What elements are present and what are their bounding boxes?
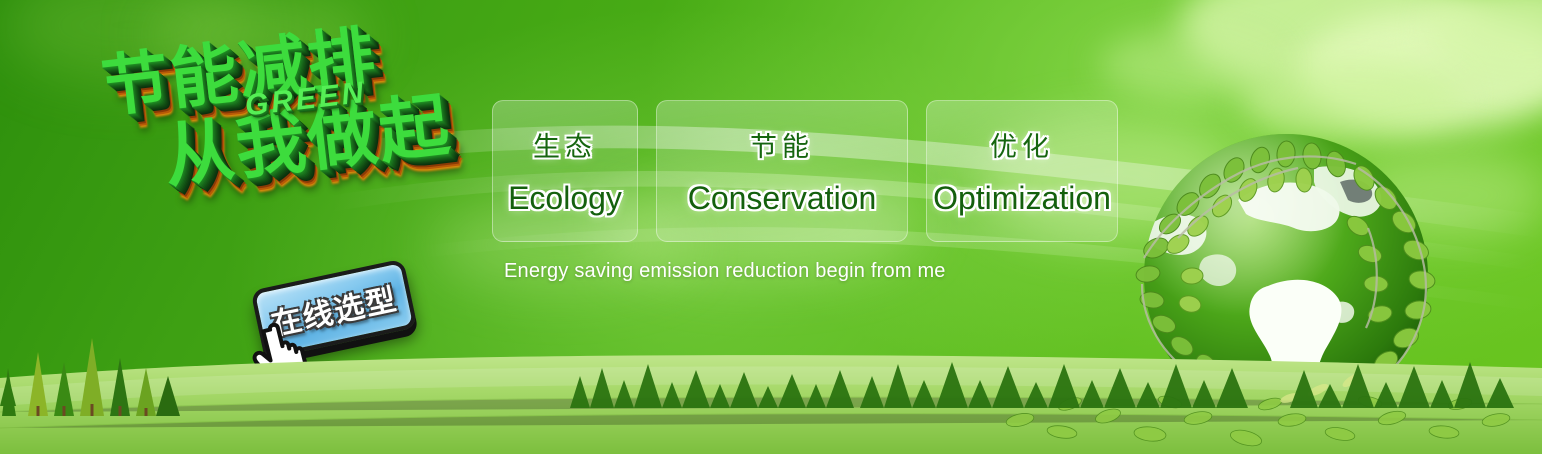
card-title-en: Optimization: [933, 180, 1111, 217]
card-title-cn: 节能: [750, 125, 814, 164]
conifer-trees-icon: [570, 350, 860, 410]
card-title-cn: 优化: [990, 125, 1054, 164]
eco-banner: 节能减排 GREEN 从我做起 在线选型 生态 Ecology 节能 Conse…: [0, 0, 1542, 454]
tagline: Energy saving emission reduction begin f…: [504, 260, 946, 283]
clouds-icon: [1180, 0, 1480, 90]
card-title-cn: 生态: [533, 125, 597, 164]
conifer-trees-icon: [0, 318, 184, 418]
feature-card-conservation[interactable]: 节能 Conservation: [656, 100, 908, 242]
conifer-trees-icon: [860, 346, 1520, 410]
headline-3d: 节能减排 GREEN 从我做起: [96, 0, 542, 282]
card-title-en: Conservation: [688, 180, 877, 217]
clouds-icon: [1100, 30, 1280, 100]
feature-card-list: 生态 Ecology 节能 Conservation 优化 Optimizati…: [492, 100, 1118, 242]
feature-card-optimization[interactable]: 优化 Optimization: [926, 100, 1118, 242]
clouds-icon: [1430, 0, 1542, 80]
card-title-en: Ecology: [508, 180, 622, 217]
feature-card-ecology[interactable]: 生态 Ecology: [492, 100, 638, 242]
